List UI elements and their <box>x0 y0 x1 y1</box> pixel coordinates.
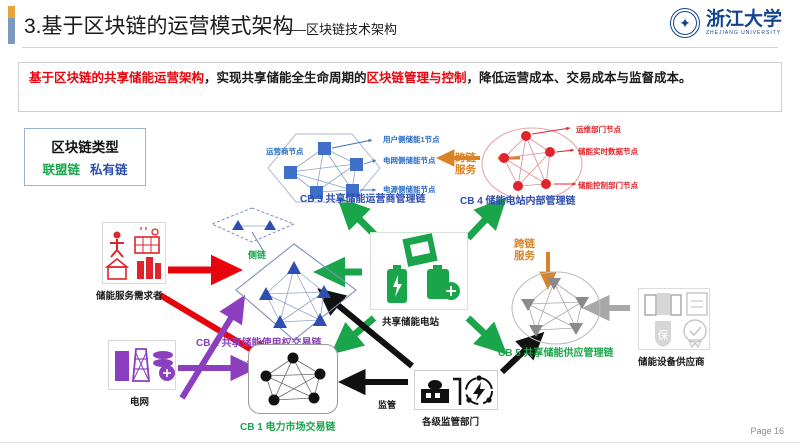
regulator-icon-box <box>414 370 498 410</box>
demander-icon <box>103 223 167 285</box>
grid-label: 电网 <box>130 394 149 408</box>
cb4-chain-label: CB 4 储能电站内部管理链 <box>460 192 576 207</box>
grid-icon-box <box>108 340 176 390</box>
crosschain-label-right: 跨链 服务 <box>514 238 535 262</box>
regulator-icon <box>415 371 499 411</box>
supplier-icon-box: 保 <box>638 288 710 350</box>
battery-station-icon <box>371 233 469 311</box>
svg-text:保: 保 <box>658 328 669 342</box>
page-number: Page 16 <box>750 426 784 436</box>
cb4-label-om-dept: 运维部门节点 <box>576 124 621 135</box>
cb5-chain-label: CB 5 共享储能供应管理链 <box>498 344 614 359</box>
crosschain-right-line2: 服务 <box>514 250 535 262</box>
cb4-label-control-dept: 储能控制部门节点 <box>578 180 638 191</box>
cb1-chain-label: CB 1 电力市场交易链 <box>240 418 336 433</box>
crosschain-top-line2: 服务 <box>455 164 476 176</box>
cb2-network <box>232 240 362 345</box>
slide-canvas: 3.基于区块链的运营模式架构 ——区块链技术架构 ✦ 浙江大学 ZHEJIANG… <box>0 0 800 448</box>
cb5-network <box>508 268 608 348</box>
cb1-network <box>248 344 338 414</box>
arrow-station-to-cb5 <box>468 318 502 350</box>
cb3-label-grid-side: 电网侧储能节点 <box>383 155 436 166</box>
cb3-label-user-side: 用户侧储能1节点 <box>383 134 440 145</box>
arrow-station-to-cb4 <box>468 202 502 238</box>
regulation-arrow-label: 监管 <box>378 398 396 411</box>
grid-icon <box>109 341 177 391</box>
regulators-label: 各级监管部门 <box>422 414 479 428</box>
cb3-label-operator: 运营商节点 <box>266 146 304 157</box>
cb4-label-realtime-data: 储能实时数据节点 <box>578 146 638 157</box>
footer-divider <box>0 442 800 443</box>
crosschain-top-line1: 跨链 <box>455 152 476 164</box>
crosschain-right-line1: 跨链 <box>514 238 535 250</box>
crosschain-label-top: 跨链 服务 <box>455 152 476 176</box>
demander-label: 储能服务需求者 <box>96 288 163 302</box>
cb3-chain-label: CB 3 共享储能运营商管理链 <box>300 190 426 205</box>
supplier-label: 储能设备供应商 <box>638 354 705 368</box>
station-icon-box <box>370 232 468 310</box>
station-label: 共享储能电站 <box>382 314 439 328</box>
supplier-icon: 保 <box>639 289 711 351</box>
demander-icon-box <box>102 222 166 284</box>
